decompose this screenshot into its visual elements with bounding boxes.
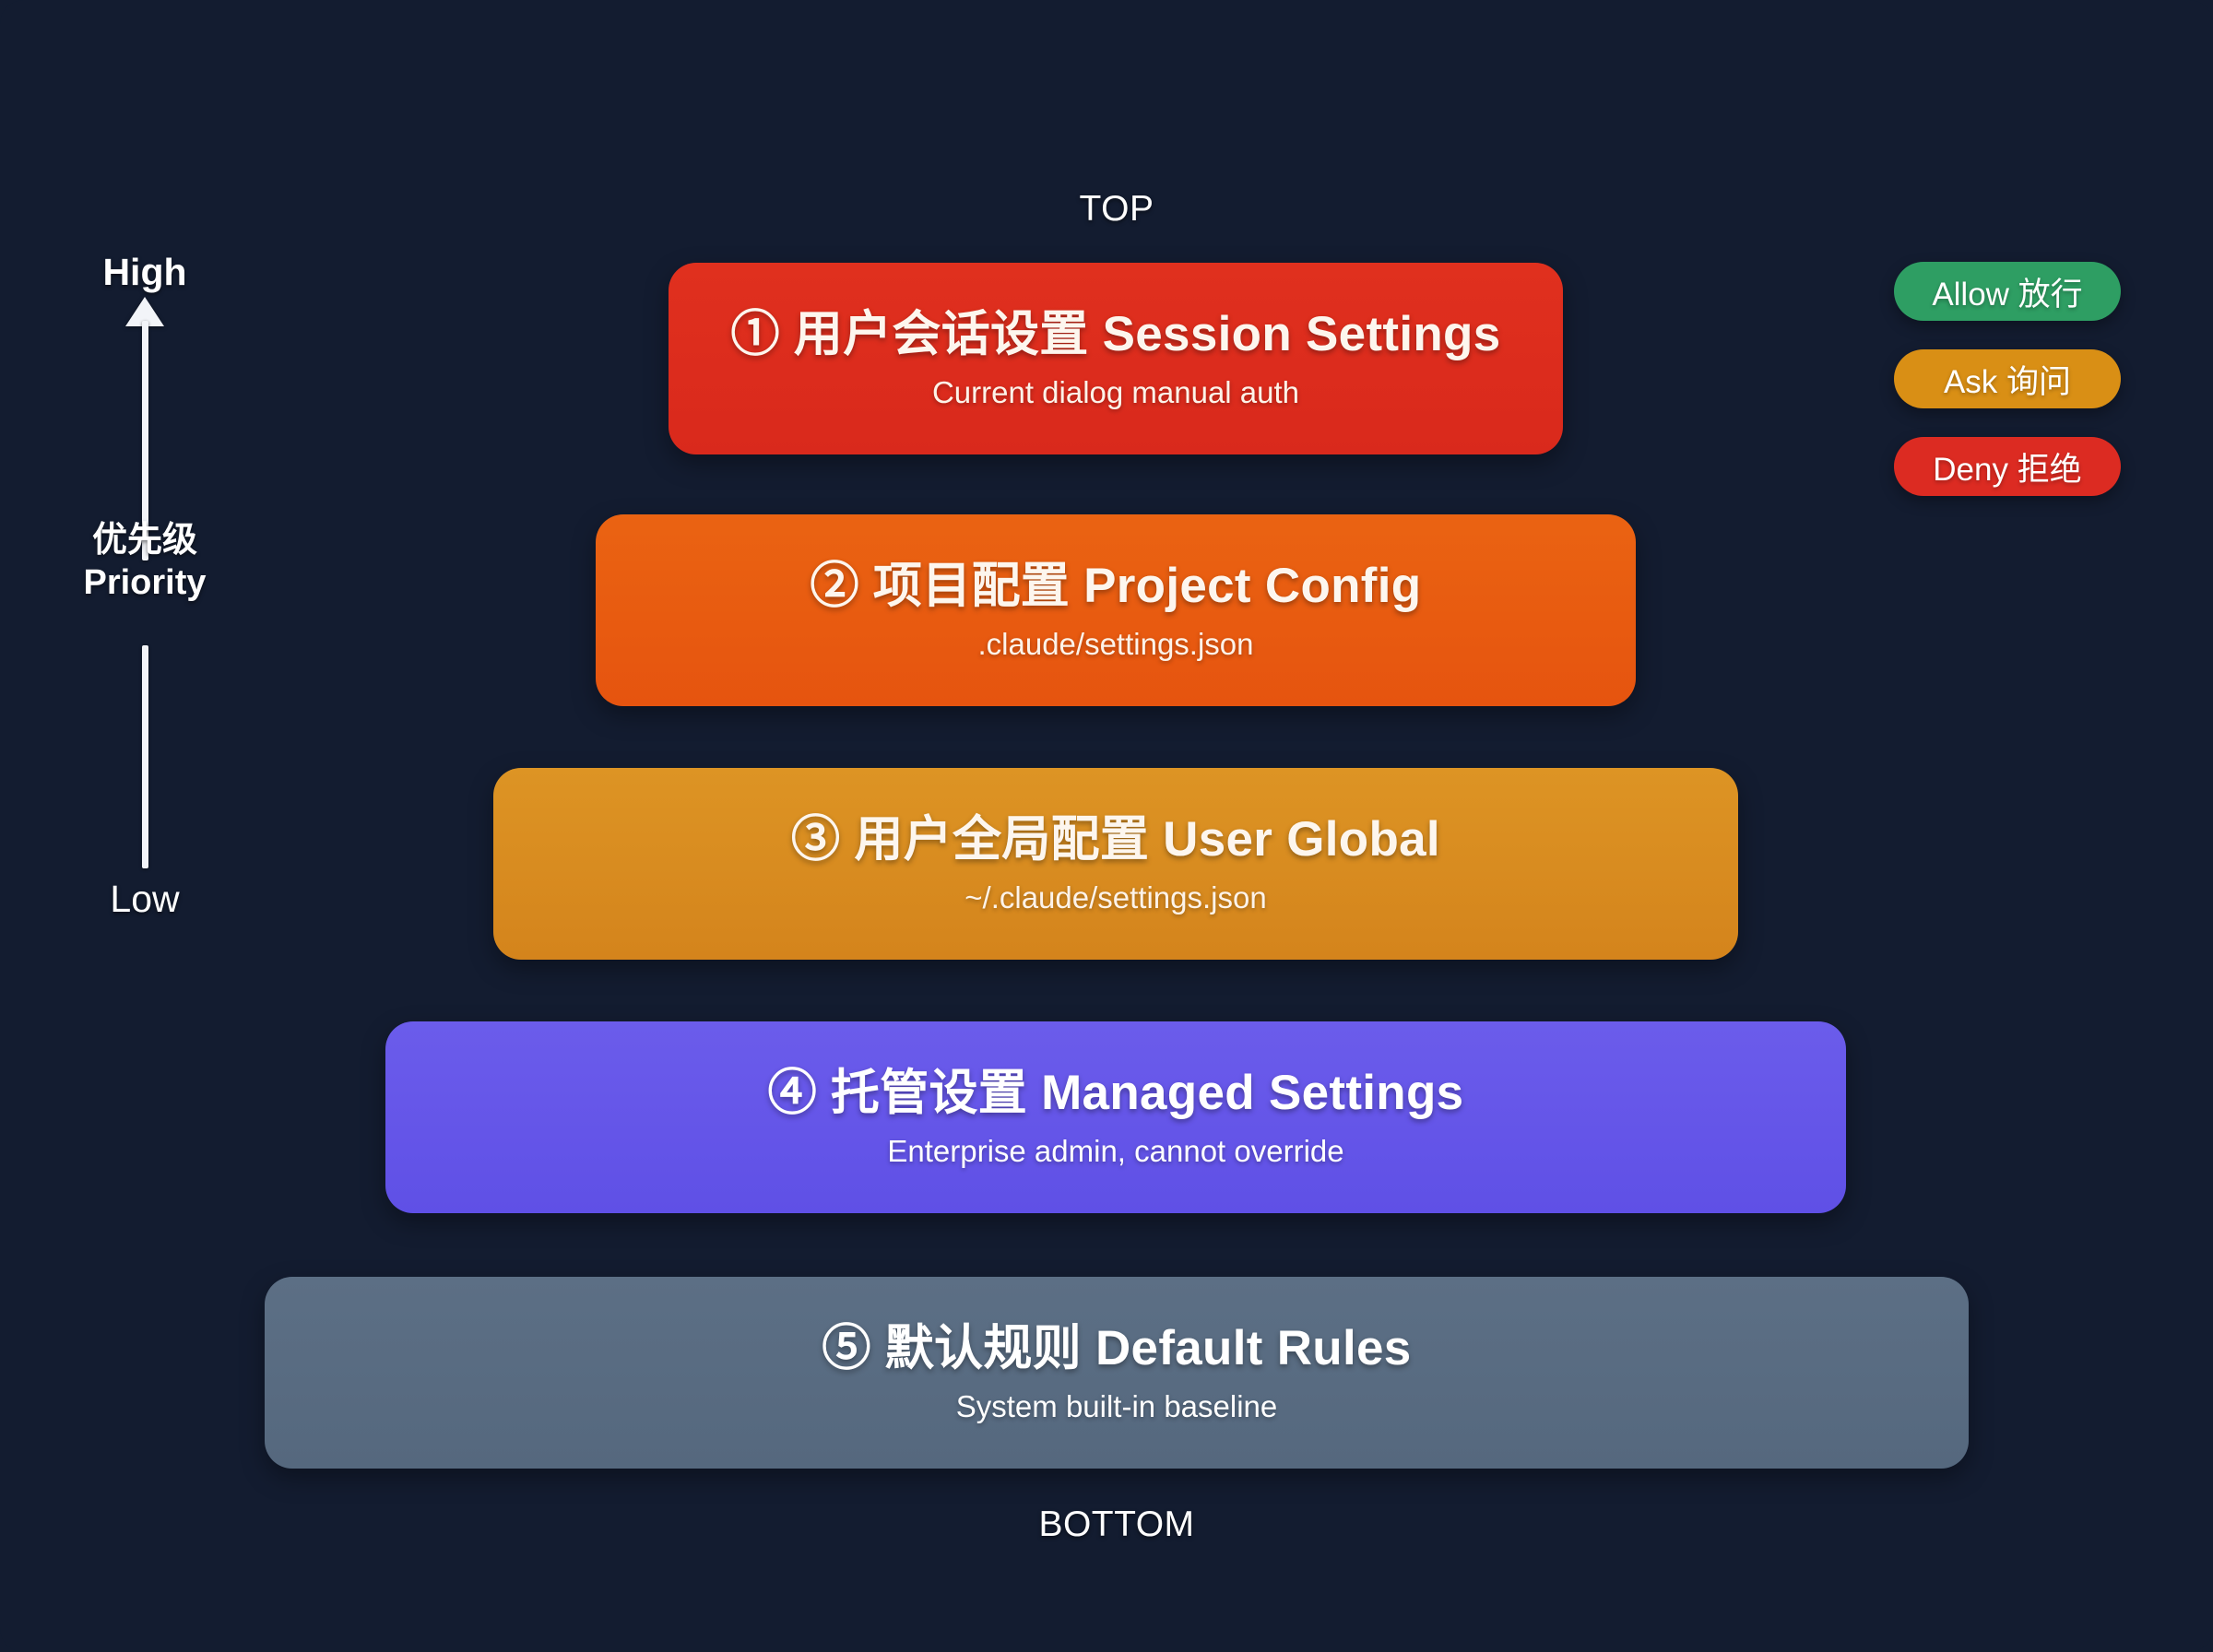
band-subtitle: .claude/settings.json <box>977 628 1253 661</box>
band-subtitle: System built-in baseline <box>956 1390 1278 1423</box>
band-project-config[interactable]: ② 项目配置 Project Config .claude/settings.j… <box>596 514 1636 706</box>
axis-label-low: Low <box>110 878 179 921</box>
legend-label: Deny 拒绝 <box>1933 443 2081 490</box>
axis-title-en: Priority <box>83 561 206 604</box>
band-subtitle: Enterprise admin, cannot override <box>887 1135 1343 1168</box>
axis-title: 优先级 Priority <box>83 519 206 605</box>
permission-legend: Allow 放行 Ask 询问 Deny 拒绝 <box>1894 262 2121 496</box>
band-title: ③ 用户全局配置 User Global <box>791 813 1440 867</box>
band-managed-settings[interactable]: ④ 托管设置 Managed Settings Enterprise admin… <box>385 1021 1846 1213</box>
legend-label: Allow 放行 <box>1932 268 2082 315</box>
band-title: ⑤ 默认规则 Default Rules <box>822 1322 1411 1375</box>
top-caption: TOP <box>1080 189 1154 230</box>
priority-axis: High 优先级 Priority Low <box>0 249 286 1438</box>
legend-badge-ask[interactable]: Ask 询问 <box>1894 349 2121 408</box>
legend-label: Ask 询问 <box>1944 356 2071 403</box>
axis-line-lower <box>142 645 148 868</box>
band-subtitle: ~/.claude/settings.json <box>964 881 1266 914</box>
band-title: ② 项目配置 Project Config <box>811 560 1422 613</box>
diagram-canvas: TOP High 优先级 Priority Low ① 用户会话设置 Sessi… <box>0 0 2213 1652</box>
legend-badge-deny[interactable]: Deny 拒绝 <box>1894 437 2121 496</box>
axis-label-high: High <box>102 251 186 294</box>
legend-badge-allow[interactable]: Allow 放行 <box>1894 262 2121 321</box>
band-default-rules[interactable]: ⑤ 默认规则 Default Rules System built-in bas… <box>265 1277 1969 1469</box>
band-title: ④ 托管设置 Managed Settings <box>768 1067 1464 1120</box>
band-session-settings[interactable]: ① 用户会话设置 Session Settings Current dialog… <box>669 263 1563 454</box>
band-subtitle: Current dialog manual auth <box>932 376 1299 409</box>
band-title: ① 用户会话设置 Session Settings <box>730 308 1500 361</box>
bottom-caption: BOTTOM <box>1038 1504 1194 1545</box>
band-user-global[interactable]: ③ 用户全局配置 User Global ~/.claude/settings.… <box>493 768 1738 960</box>
axis-title-cn: 优先级 <box>83 519 206 561</box>
